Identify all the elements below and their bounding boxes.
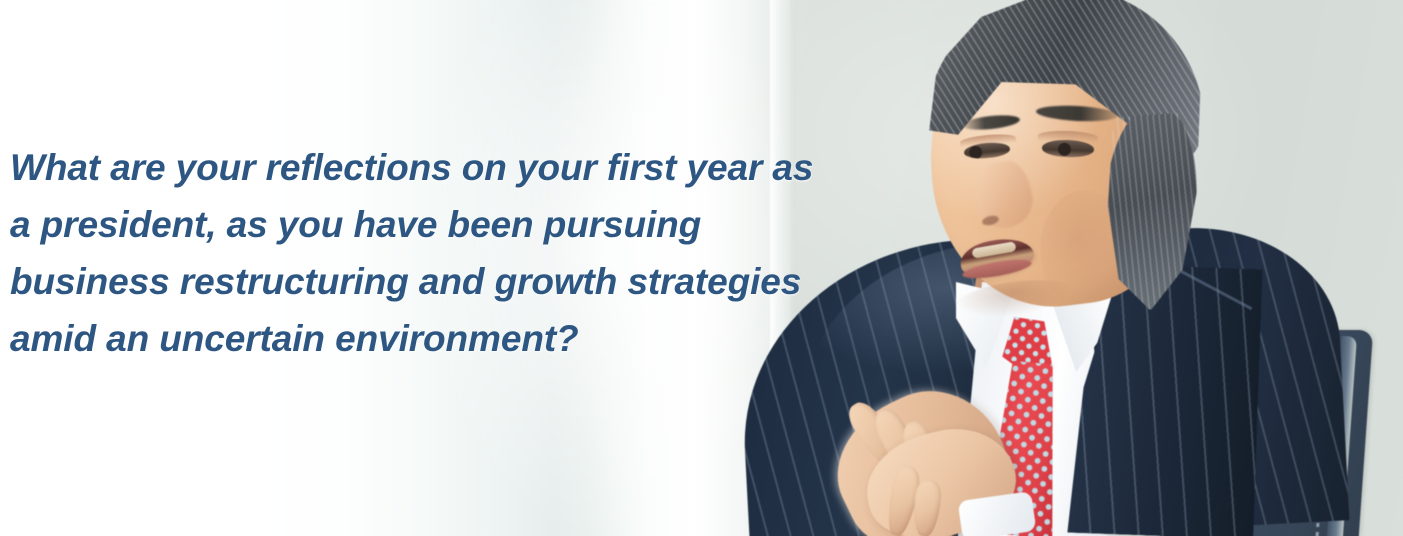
interview-question-hero-banner: What are your reflections on your first … — [0, 0, 1403, 536]
pupil-left — [969, 145, 983, 159]
interview-question-headline: What are your reflections on your first … — [10, 139, 910, 367]
question-line-3: business restructuring and growth strate… — [10, 253, 910, 310]
question-line-4: amid an uncertain environment? — [10, 310, 910, 367]
pupil-right — [1058, 143, 1071, 156]
question-line-1: What are your reflections on your first … — [10, 139, 910, 196]
question-line-2: a president, as you have been pursuing — [10, 196, 910, 253]
